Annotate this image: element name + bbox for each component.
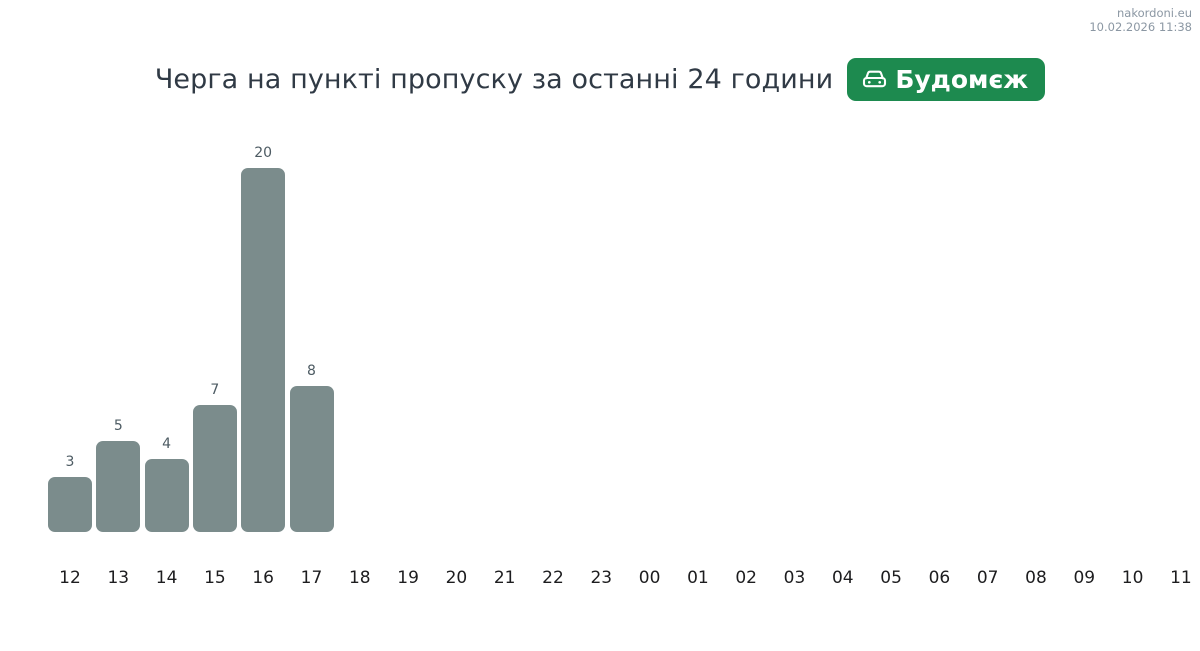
bar-value-label: 4 — [145, 437, 189, 451]
x-axis-tick-label: 11 — [1159, 570, 1200, 587]
x-axis-tick-label: 14 — [145, 570, 189, 587]
x-axis-tick-label: 08 — [1014, 570, 1058, 587]
x-axis-tick-label: 06 — [917, 570, 961, 587]
x-axis-tick-label: 05 — [869, 570, 913, 587]
x-axis-tick-label: 07 — [966, 570, 1010, 587]
x-axis-tick-label: 15 — [193, 570, 237, 587]
x-axis-tick-label: 03 — [773, 570, 817, 587]
bar-value-label: 5 — [96, 419, 140, 433]
bar-group[interactable]: 8 — [290, 386, 334, 532]
bar[interactable] — [290, 386, 334, 532]
bar-value-label: 7 — [193, 383, 237, 397]
bar-group[interactable]: 7 — [193, 405, 237, 532]
x-axis-tick-label: 10 — [1111, 570, 1155, 587]
bar-group[interactable]: 5 — [96, 441, 140, 532]
bar[interactable] — [48, 477, 92, 532]
x-axis-tick-label: 09 — [1062, 570, 1106, 587]
bar-group[interactable]: 4 — [145, 459, 189, 532]
x-axis-tick-label: 02 — [724, 570, 768, 587]
x-axis-tick-label: 21 — [483, 570, 527, 587]
bar-group[interactable]: 20 — [241, 168, 285, 532]
bar-value-label: 20 — [241, 146, 285, 160]
x-axis-tick-label: 12 — [48, 570, 92, 587]
bar[interactable] — [193, 405, 237, 532]
x-axis-tick-label: 16 — [241, 570, 285, 587]
x-axis-tick-label: 18 — [338, 570, 382, 587]
bar-value-label: 3 — [48, 455, 92, 469]
x-axis-tick-label: 01 — [676, 570, 720, 587]
x-axis-tick-label: 00 — [628, 570, 672, 587]
x-axis-tick-label: 04 — [821, 570, 865, 587]
bar[interactable] — [145, 459, 189, 532]
bar-group[interactable]: 3 — [48, 477, 92, 532]
x-axis-tick-label: 19 — [386, 570, 430, 587]
x-axis-tick-label: 20 — [434, 570, 478, 587]
bar[interactable] — [96, 441, 140, 532]
x-axis-tick-label: 22 — [531, 570, 575, 587]
bar[interactable] — [241, 168, 285, 532]
bar-value-label: 8 — [290, 364, 334, 378]
bars-layer: 3547208 — [0, 0, 1200, 651]
x-axis-tick-label: 13 — [96, 570, 140, 587]
x-axis-tick-label: 23 — [579, 570, 623, 587]
x-axis-tick-label: 17 — [290, 570, 334, 587]
bar-chart: 3547208 12131415161718192021222300010203… — [0, 0, 1200, 651]
x-axis: 1213141516171819202122230001020304050607… — [0, 570, 1200, 596]
